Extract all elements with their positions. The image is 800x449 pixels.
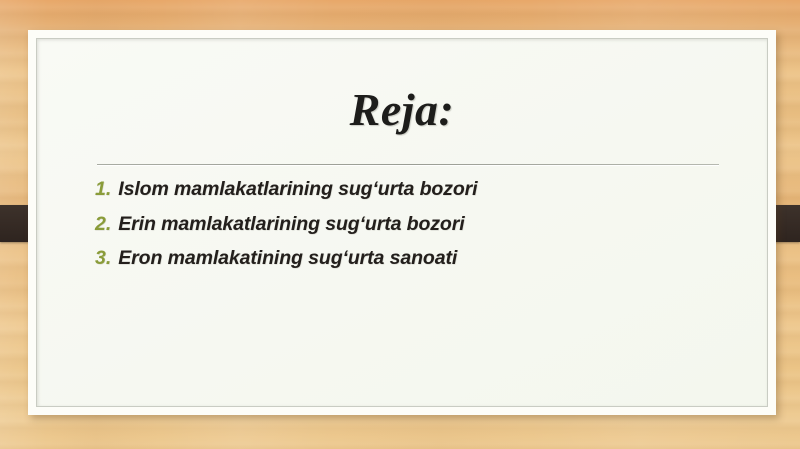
list-item-text: Eron mamlakatining sug‘urta sanoati [118,246,457,272]
list-item-number: 1. [95,177,111,203]
list-item: 1. Islom mamlakatlarining sug‘urta bozor… [95,177,737,203]
list-item-text: Islom mamlakatlarining sug‘urta bozori [118,177,477,203]
list-item-number: 2. [95,212,111,238]
slide-card-content-area: Reja: 1. Islom mamlakatlarining sug‘urta… [36,38,768,407]
list-item: 3. Eron mamlakatining sug‘urta sanoati [95,246,737,272]
slide-title: Reja: [37,87,767,133]
slide-card: Reja: 1. Islom mamlakatlarining sug‘urta… [28,30,776,415]
title-divider [97,164,719,165]
list-item: 2. Erin mamlakatlarining sug‘urta bozori [95,212,737,238]
plan-list: 1. Islom mamlakatlarining sug‘urta bozor… [95,177,737,281]
list-item-text: Erin mamlakatlarining sug‘urta bozori [118,212,464,238]
slide-stage: Reja: 1. Islom mamlakatlarining sug‘urta… [0,0,800,449]
list-item-number: 3. [95,246,111,272]
